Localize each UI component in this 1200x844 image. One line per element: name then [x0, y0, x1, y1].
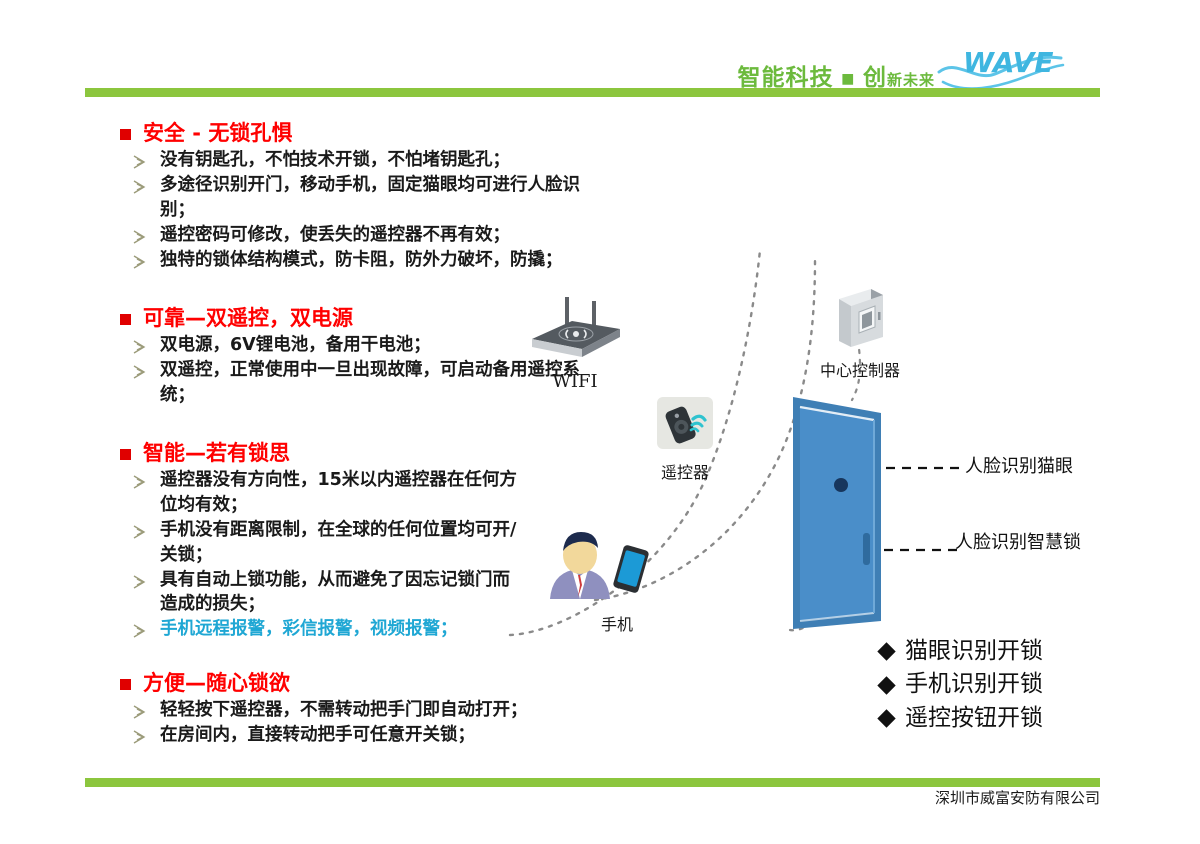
chevron-right-icon: [132, 621, 148, 635]
unlock-method-label: 猫眼识别开锁: [905, 635, 1043, 668]
unlock-method-label: 遥控按钮开锁: [905, 702, 1043, 735]
content-column: 安全 - 无锁孔惧 没有钥匙孔，不怕技术开锁，不怕堵钥匙孔； 多途径识别开门，移…: [0, 110, 560, 770]
controller-label: 中心控制器: [820, 357, 900, 381]
diamond-bullet-icon: [877, 642, 895, 660]
list-item-text: 没有钥匙孔，不怕技术开锁，不怕堵钥匙孔；: [160, 150, 510, 170]
chevron-right-icon: [132, 152, 148, 166]
square-bullet-icon: [120, 449, 131, 460]
callout-smart-lock: 人脸识别智慧锁: [955, 528, 1081, 554]
chevron-right-icon: [132, 337, 148, 351]
section-title: 方便—随心锁欲: [143, 670, 290, 696]
peephole-dot-icon: [834, 478, 848, 492]
unlock-methods-list: 猫眼识别开锁 手机识别开锁 遥控按钮开锁: [880, 635, 1043, 735]
chevron-right-icon: [132, 727, 148, 741]
diamond-bullet-icon: [877, 676, 895, 694]
slide-header: 智能科技 ■ 创新未来 WAVE: [0, 0, 1200, 110]
section-heading: 智能—若有锁思: [120, 440, 520, 466]
list-item: 手机远程报警，彩信报警，视频报警；: [120, 617, 520, 642]
section-title: 可靠—双遥控，双电源: [143, 305, 353, 331]
door-icon: [785, 385, 895, 635]
square-bullet-icon: [120, 129, 131, 140]
chevron-right-icon: [132, 227, 148, 241]
list-item-text: 具有自动上锁功能，从而避免了因忘记锁门而造成的损失；: [160, 570, 510, 615]
user-with-phone: 手机: [530, 525, 660, 635]
section-intelligence: 智能—若有锁思 遥控器没有方向性，15米以内遥控器在任何方位均有效； 手机没有距…: [120, 440, 520, 642]
list-item-text: 遥控器没有方向性，15米以内遥控器在任何方位均有效；: [160, 470, 517, 515]
section-heading: 安全 - 无锁孔惧: [120, 120, 590, 146]
diamond-bullet-icon: [877, 709, 895, 727]
header-tagline: 智能科技 ■ 创新未来: [737, 58, 935, 92]
slide-root: 智能科技 ■ 创新未来 WAVE 安全 - 无锁孔惧: [0, 0, 1200, 844]
chevron-right-icon: [132, 362, 148, 376]
smart-door: [785, 385, 895, 635]
unlock-method-item: 手机识别开锁: [880, 668, 1043, 701]
section-bullet-list: 遥控器没有方向性，15米以内遥控器在任何方位均有效； 手机没有距离限制，在全球的…: [120, 468, 520, 642]
tagline-part3: 新: [887, 71, 903, 89]
footer-green-rule: [85, 778, 1100, 787]
list-item: 遥控器没有方向性，15米以内遥控器在任何方位均有效；: [120, 468, 520, 518]
header-green-rule: [85, 88, 1100, 97]
chevron-right-icon: [132, 472, 148, 486]
list-item: 具有自动上锁功能，从而避免了因忘记锁门而造成的损失；: [120, 568, 520, 618]
central-controller: 中心控制器: [820, 285, 900, 381]
section-title: 安全 - 无锁孔惧: [143, 120, 292, 146]
list-item-text: 遥控密码可修改，使丢失的遥控器不再有效；: [160, 225, 510, 245]
list-item-text: 轻轻按下遥控器，不需转动把手门即自动打开；: [160, 700, 528, 720]
list-item-text: 手机没有距离限制，在全球的任何位置均可开/关锁；: [160, 520, 516, 565]
tagline-square-icon: ■: [841, 71, 855, 87]
chevron-right-icon: [132, 572, 148, 586]
unlock-method-item: 猫眼识别开锁: [880, 635, 1043, 668]
wave-logo: WAVE: [935, 42, 1065, 94]
wave-logo-text: WAVE: [963, 46, 1053, 79]
callout-peephole: 人脸识别猫眼: [965, 452, 1073, 478]
phone-label: 手机: [574, 611, 660, 635]
tagline-part4: 未来: [903, 71, 935, 89]
remote-control-icon: [655, 395, 715, 453]
wifi-router: WIFI: [520, 295, 630, 392]
controller-box-icon: [831, 285, 889, 351]
chevron-right-icon: [132, 522, 148, 536]
list-item: 没有钥匙孔，不怕技术开锁，不怕堵钥匙孔；: [120, 148, 590, 173]
list-item: 多途径识别开门，移动手机，固定猫眼均可进行人脸识别；: [120, 173, 590, 223]
chevron-right-icon: [132, 702, 148, 716]
remote-label: 遥控器: [655, 459, 715, 483]
unlock-method-item: 遥控按钮开锁: [880, 702, 1043, 735]
list-item-text: 手机远程报警，彩信报警，视频报警；: [160, 619, 458, 639]
unlock-method-label: 手机识别开锁: [905, 668, 1043, 701]
list-item: 手机没有距离限制，在全球的任何位置均可开/关锁；: [120, 518, 520, 568]
wifi-label: WIFI: [520, 371, 630, 392]
section-title: 智能—若有锁思: [143, 440, 290, 466]
square-bullet-icon: [120, 314, 131, 325]
footer-company-name: 深圳市威富安防有限公司: [0, 787, 1100, 808]
wave-logo-svg: WAVE: [935, 42, 1065, 94]
wifi-router-icon: [520, 295, 630, 365]
remote-control: 遥控器: [655, 395, 715, 483]
list-item-text: 在房间内，直接转动把手可任意开关锁；: [160, 725, 475, 745]
chevron-right-icon: [132, 252, 148, 266]
chevron-right-icon: [132, 177, 148, 191]
person-avatar-icon: [530, 525, 660, 605]
list-item-text: 多途径识别开门，移动手机，固定猫眼均可进行人脸识别；: [160, 175, 580, 220]
list-item-text: 双电源，6V锂电池，备用干电池；: [160, 335, 431, 355]
system-diagram: WIFI 遥控器: [490, 240, 1200, 800]
square-bullet-icon: [120, 679, 131, 690]
door-handle-icon: [863, 533, 870, 565]
